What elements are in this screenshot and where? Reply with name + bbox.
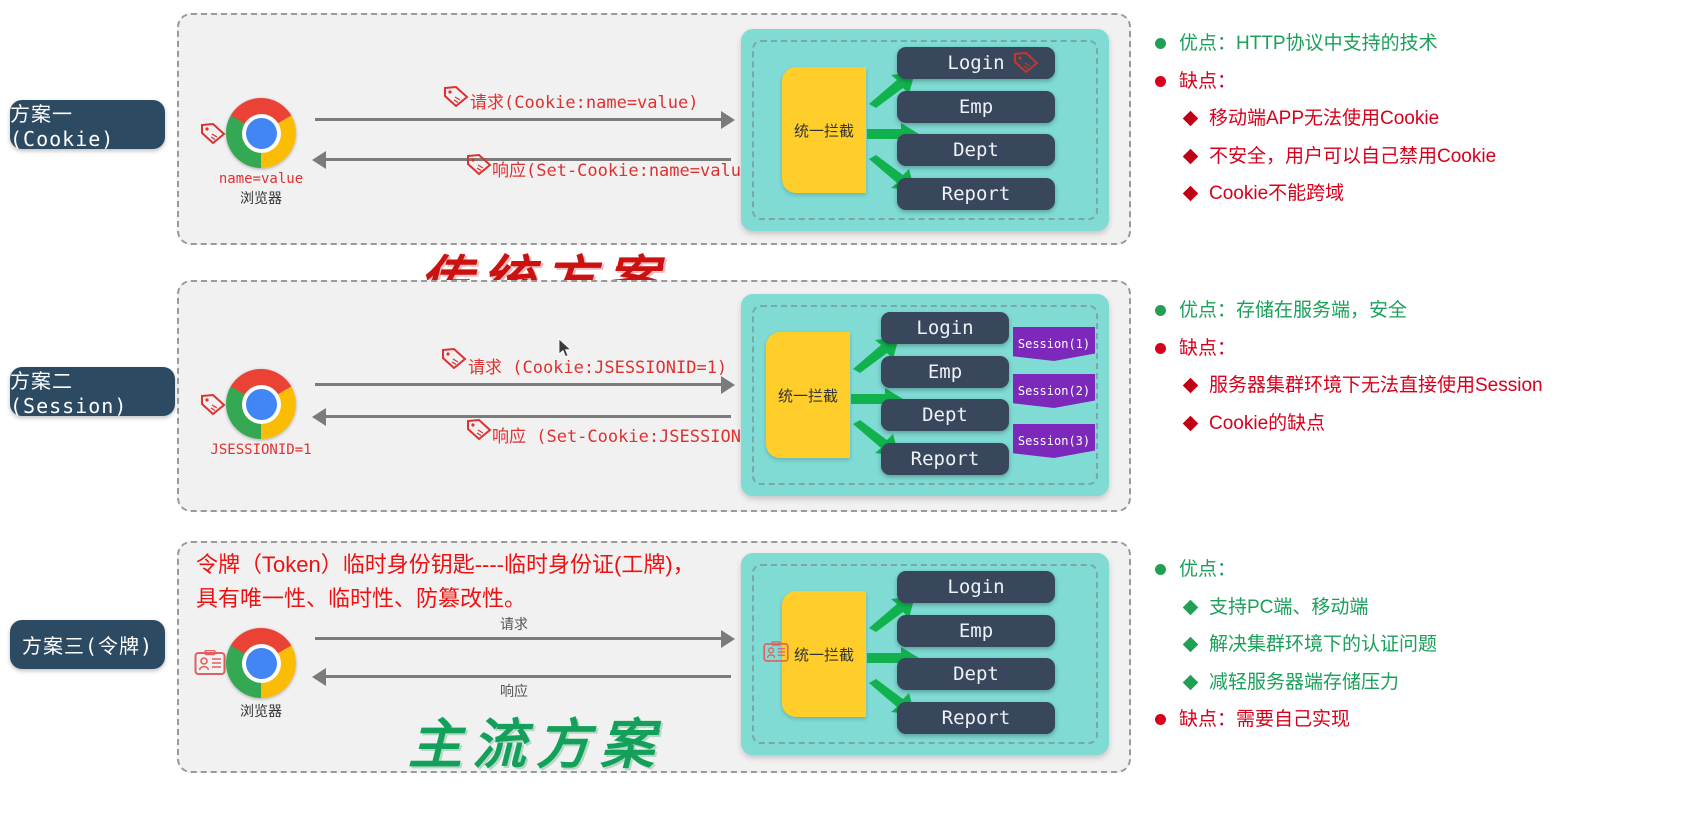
price-tag-icon [1013,51,1039,73]
scheme-label-session[interactable]: 方案二(Session) [10,367,175,416]
bullet-dot-icon [1155,76,1166,87]
bullet-item: 缺点： [1155,68,1686,96]
bullet-diamond-icon [1183,599,1199,615]
response-arrow-head-1 [312,151,326,169]
chrome-logo-icon [226,628,296,698]
price-tag-icon [466,153,492,175]
bullet-item: 优点：存储在服务端，安全 [1155,297,1686,325]
browser-label-3: 浏览器 [186,701,336,721]
bullet-text: 支持PC端、移动端 [1209,594,1368,622]
bullet-item: 不安全，用户可以自己禁用Cookie [1185,143,1686,171]
browser-cookie-value-2: JSESSIONID=1 [186,442,336,458]
bullet-text: 优点： [1179,556,1236,584]
server-box-1: 统一拦截 Login Emp Dept Report [741,29,1109,231]
bullet-text: 缺点：需要自己实现 [1179,706,1350,734]
watermark-mainstream: 主流方案 [408,700,664,779]
browser-label-1: 浏览器 [186,188,336,208]
bullet-item: 移动端APP无法使用Cookie [1185,105,1686,133]
service-login-2[interactable]: Login [881,312,1009,344]
bullet-dot-icon [1155,714,1166,725]
browser-cookie-value-1: name=value [186,171,336,187]
token-description-line2: 具有唯一性、临时性、防篡改性。 [196,582,695,616]
bullet-item: Cookie的缺点 [1185,410,1686,438]
request-arrow-head-2 [721,376,735,394]
service-dept-1[interactable]: Dept [897,134,1055,166]
service-emp-3[interactable]: Emp [897,615,1055,647]
bullet-diamond-icon [1183,148,1199,164]
price-tag-icon [443,85,469,107]
bullet-text: 服务器集群环境下无法直接使用Session [1209,372,1543,400]
price-tag-icon [441,347,467,369]
bullet-text: 优点：HTTP协议中支持的技术 [1179,30,1438,58]
response-label-3: 响应 [500,681,528,701]
bullet-item: 优点： [1155,556,1686,584]
bullet-diamond-icon [1183,111,1199,127]
chrome-logo-icon [226,98,296,168]
bullet-text: 移动端APP无法使用Cookie [1209,105,1439,133]
bullet-text: 减轻服务器端存储压力 [1209,669,1399,697]
interceptor-1: 统一拦截 [782,67,866,193]
bullet-text: 优点：存储在服务端，安全 [1179,297,1407,325]
service-emp-2[interactable]: Emp [881,356,1009,388]
request-label-3: 请求 [500,614,528,634]
bullet-text: Cookie的缺点 [1209,410,1325,438]
token-description: 令牌（Token）临时身份钥匙----临时身份证(工牌)， 具有唯一性、临时性、… [196,548,695,616]
bullet-item: 解决集群环境下的认证问题 [1185,631,1686,659]
service-dept-2[interactable]: Dept [881,399,1009,431]
bullet-diamond-icon [1183,415,1199,431]
request-arrow-head-1 [721,111,735,129]
bullet-text: 缺点： [1179,335,1236,363]
bullet-text: 解决集群环境下的认证问题 [1209,631,1437,659]
service-login-3[interactable]: Login [897,571,1055,603]
bullet-dot-icon [1155,564,1166,575]
request-label-1: 请求(Cookie:name=value) [470,88,698,113]
price-tag-icon [200,393,226,415]
mouse-cursor [558,338,572,358]
scheme-label-cookie[interactable]: 方案一(Cookie) [10,100,165,149]
request-arrow-line-2 [315,383,721,386]
response-arrow-line-2 [326,415,731,418]
request-arrow-line-1 [315,118,721,121]
diagram-canvas: 方案一(Cookie) name=value 浏览器 请求(Cookie:nam… [0,0,1686,829]
request-arrow-line-3 [315,637,721,640]
server-box-2: 统一拦截 Login Emp Dept Report Session(1) Se… [741,294,1109,496]
bullet-item: 减轻服务器端存储压力 [1185,669,1686,697]
request-arrow-head-3 [721,630,735,648]
service-report-1[interactable]: Report [897,178,1055,210]
response-arrow-head-3 [312,668,326,686]
bullet-dot-icon [1155,343,1166,354]
bullet-diamond-icon [1183,186,1199,202]
service-report-2[interactable]: Report [881,443,1009,475]
chrome-logo-icon [226,369,296,439]
bullet-diamond-icon [1183,378,1199,394]
bullet-text: Cookie不能跨域 [1209,180,1344,208]
id-card-icon [763,641,789,663]
bullet-dot-icon [1155,305,1166,316]
bullet-item: 缺点：需要自己实现 [1155,706,1686,734]
service-emp-1[interactable]: Emp [897,91,1055,123]
bullet-diamond-icon [1183,637,1199,653]
price-tag-icon [200,122,226,144]
bullet-item: 优点：HTTP协议中支持的技术 [1155,30,1686,58]
interceptor-3: 统一拦截 [782,591,866,717]
server-box-3: 统一拦截 Login Emp Dept Report [741,553,1109,755]
price-tag-icon [466,418,492,440]
bullet-dot-icon [1155,38,1166,49]
bullet-text: 不安全，用户可以自己禁用Cookie [1209,143,1496,171]
service-report-3[interactable]: Report [897,702,1055,734]
bullet-diamond-icon [1183,674,1199,690]
bullet-list-cookie: 优点：HTTP协议中支持的技术 缺点： 移动端APP无法使用Cookie 不安全… [1155,30,1686,218]
request-label-2: 请求 (Cookie:JSESSIONID=1) [468,353,727,378]
service-dept-3[interactable]: Dept [897,658,1055,690]
bullet-item: 支持PC端、移动端 [1185,594,1686,622]
bullet-item: Cookie不能跨域 [1185,180,1686,208]
bullet-list-session: 优点：存储在服务端，安全 缺点： 服务器集群环境下无法直接使用Session C… [1155,297,1686,447]
scheme-label-token[interactable]: 方案三(令牌) [10,620,165,669]
response-label-1: 响应(Set-Cookie:name=value) [492,156,761,181]
interceptor-2: 统一拦截 [766,332,850,458]
response-arrow-head-2 [312,408,326,426]
bullet-list-token: 优点： 支持PC端、移动端 解决集群环境下的认证问题 减轻服务器端存储压力 缺点… [1155,556,1686,744]
bullet-item: 缺点： [1155,335,1686,363]
bullet-text: 缺点： [1179,68,1236,96]
id-card-icon [194,650,226,676]
response-arrow-line-3 [326,675,731,678]
bullet-item: 服务器集群环境下无法直接使用Session [1185,372,1686,400]
token-description-line1: 令牌（Token）临时身份钥匙----临时身份证(工牌)， [196,548,695,582]
